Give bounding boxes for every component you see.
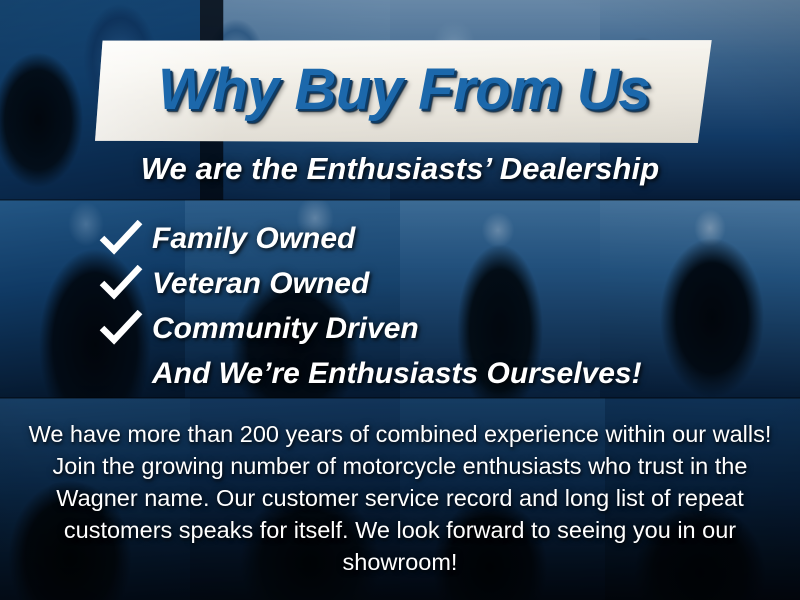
list-item-label: Veteran Owned — [144, 267, 369, 301]
page-title: Why Buy From Us — [90, 56, 718, 123]
body-paragraph: We have more than 200 years of combined … — [26, 418, 774, 578]
list-item-label: Community Driven — [144, 312, 419, 346]
check-icon — [98, 310, 144, 348]
check-icon — [98, 265, 144, 303]
check-icon — [98, 220, 144, 258]
list-item-label: Family Owned — [144, 222, 355, 256]
benefits-list: Family Owned Veteran Owned Community Dri… — [98, 216, 758, 396]
promo-graphic: Why Buy From Us We are the Enthusiasts’ … — [0, 0, 800, 600]
list-item: Veteran Owned — [98, 261, 758, 306]
list-item: And We’re Enthusiasts Ourselves! — [98, 351, 758, 396]
list-item: Community Driven — [98, 306, 758, 351]
subtitle: We are the Enthusiasts’ Dealership — [0, 151, 800, 187]
list-item-label: And We’re Enthusiasts Ourselves! — [144, 357, 642, 391]
title-banner: Why Buy From Us — [90, 38, 718, 144]
list-item: Family Owned — [98, 216, 758, 261]
